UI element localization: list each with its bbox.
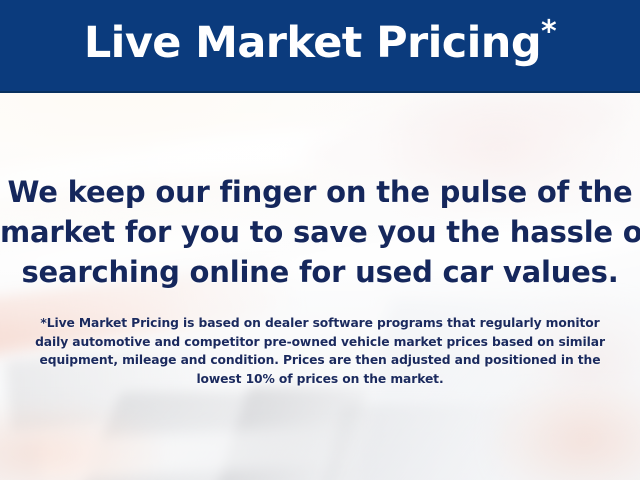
headline-line: searching online for used car values. <box>0 252 640 292</box>
disclaimer-line: daily automotive and competitor pre-owne… <box>20 333 620 352</box>
headline-line: We keep our finger on the pulse of the <box>0 172 640 212</box>
dark-car-wedge <box>318 404 522 480</box>
orange-glow-bottom-left <box>0 404 160 480</box>
headline: We keep our finger on the pulse of the m… <box>0 172 640 292</box>
page-title-text: Live Market Pricing <box>84 18 541 68</box>
orange-glow-right <box>492 392 640 480</box>
dark-car-wedge <box>72 392 370 480</box>
page-title: Live Market Pricing* <box>84 22 556 69</box>
highlight-band <box>39 424 361 480</box>
page-title-asterisk: * <box>541 15 556 50</box>
header-band: Live Market Pricing* <box>0 0 640 93</box>
headline-line: market for you to save you the hassle of <box>0 212 640 252</box>
dark-car-wedge <box>207 386 369 480</box>
reflection-streak <box>149 113 581 181</box>
disclaimer-text: *Live Market Pricing is based on dealer … <box>20 314 620 388</box>
live-market-pricing-banner: Live Market Pricing* We keep our finger … <box>0 0 640 480</box>
disclaimer-line: *Live Market Pricing is based on dealer … <box>20 314 620 333</box>
disclaimer-line: equipment, mileage and condition. Prices… <box>20 351 620 370</box>
disclaimer-line: lowest 10% of prices on the market. <box>20 370 620 389</box>
